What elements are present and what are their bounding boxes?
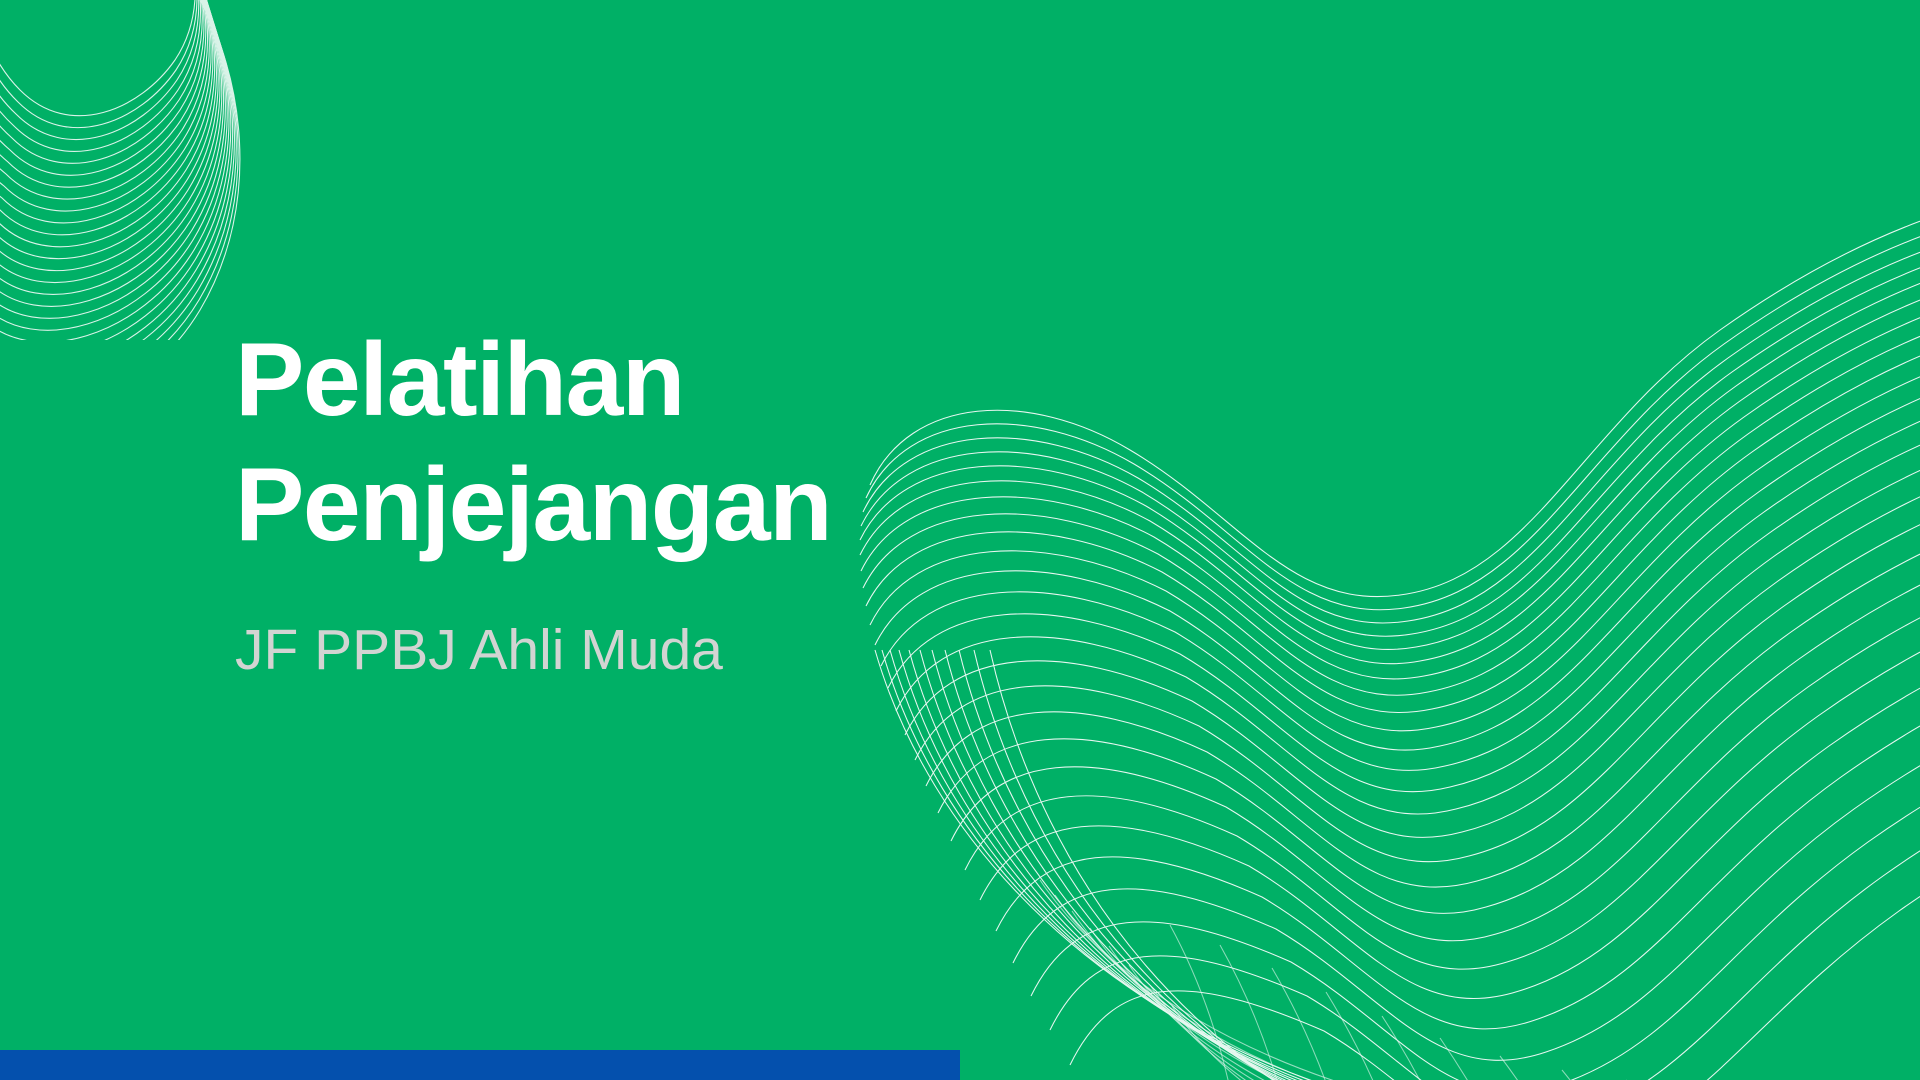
page-subtitle: JF PPBJ Ahli Muda xyxy=(235,568,1135,684)
wave-lines-top-left-icon xyxy=(0,0,360,340)
bottom-accent-bar xyxy=(0,1050,960,1080)
title-slide: Pelatihan Penjejangan JF PPBJ Ahli Muda xyxy=(0,0,1920,1080)
page-title: Pelatihan Penjejangan xyxy=(235,318,1135,568)
slide-text-block: Pelatihan Penjejangan JF PPBJ Ahli Muda xyxy=(235,318,1135,684)
